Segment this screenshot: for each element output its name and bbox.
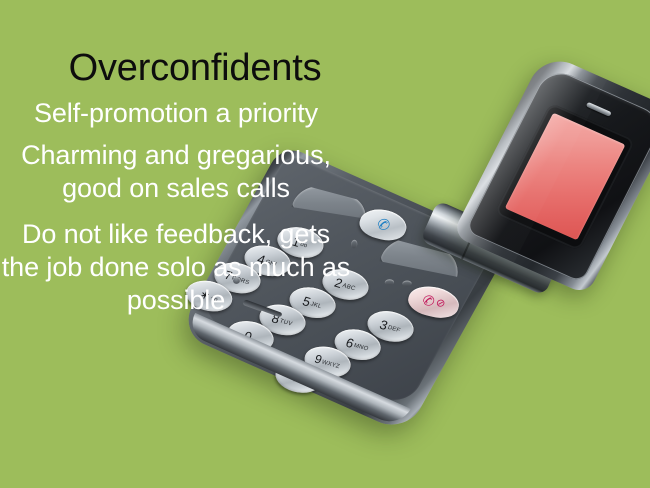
bullet-line: the job done solo as much as <box>0 251 352 284</box>
slide-canvas: ✆ ✆ ⊘ 1 oo 2 ABC 3 <box>0 0 650 488</box>
bullet-line: Do not like feedback, gets <box>0 218 352 251</box>
bullet-paragraph-3: Do not like feedback, gets the job done … <box>0 218 352 317</box>
bullet-paragraph-1: Self-promotion a priority <box>0 97 352 130</box>
bullet-line: possible <box>0 284 352 317</box>
phone-screen <box>505 113 626 241</box>
earpiece-icon <box>586 102 612 117</box>
page-title: Overconfidents <box>0 47 390 89</box>
key-letters: MNO <box>353 343 369 353</box>
bullet-line: Self-promotion a priority <box>0 97 352 130</box>
key-letters: WXYZ <box>321 360 341 371</box>
bullet-paragraph-2: Charming and gregarious, good on sales c… <box>0 139 352 205</box>
key-letters: DEF <box>387 325 401 334</box>
bullet-line: good on sales calls <box>0 172 352 205</box>
bullet-line: Charming and gregarious, <box>0 139 352 172</box>
slide-text-block: Overconfidents Self-promotion a priority… <box>0 0 360 340</box>
handset-icon: ✆ <box>374 216 393 234</box>
